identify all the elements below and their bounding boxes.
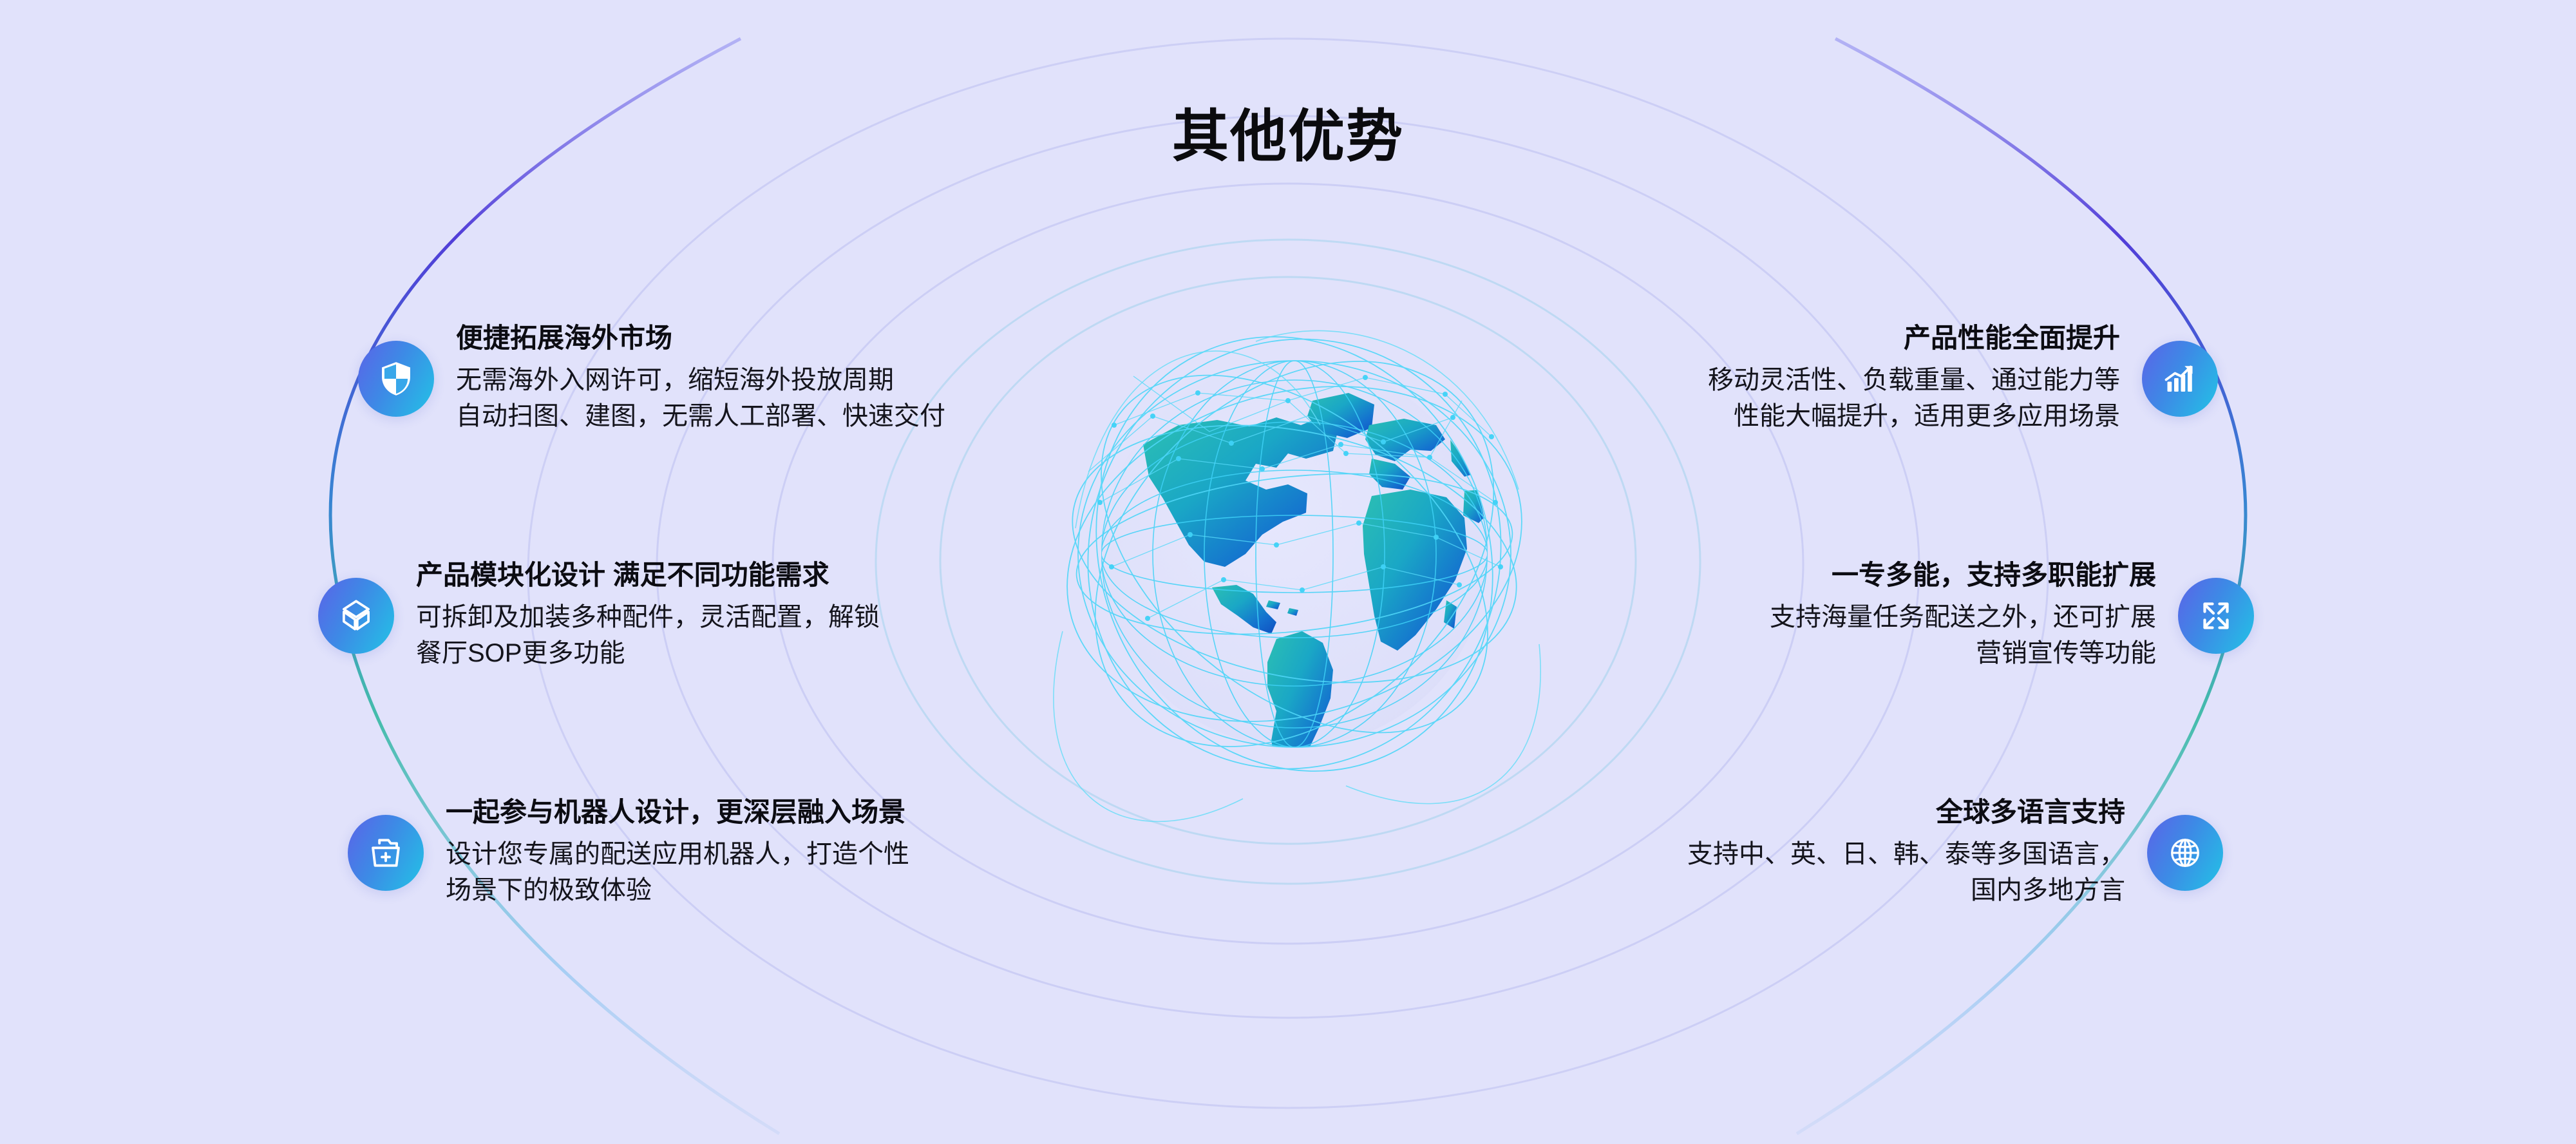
- feature-line: 国内多地方言: [1687, 872, 2125, 909]
- feature-item-left-2[interactable]: 产品模块化设计 满足不同功能需求 可拆卸及加装多种配件，灵活配置，解锁 餐厅SO…: [318, 559, 902, 672]
- feature-line: 自动扫图、建图，无需人工部署、快速交付: [456, 398, 945, 435]
- feature-text-block: 产品性能全面提升 移动灵活性、负载重量、通过能力等 性能大幅提升，适用更多应用场…: [1686, 322, 2142, 435]
- folder-plus-icon: [348, 815, 424, 891]
- feature-title: 一专多能，支持多职能扩展: [1770, 559, 2156, 591]
- feature-item-right-1[interactable]: 产品性能全面提升 移动灵活性、负载重量、通过能力等 性能大幅提升，适用更多应用场…: [1686, 322, 2218, 435]
- globe-icon: [2147, 815, 2223, 891]
- feature-title: 产品性能全面提升: [1708, 322, 2120, 354]
- feature-text-block: 便捷拓展海外市场 无需海外入网许可，缩短海外投放周期 自动扫图、建图，无需人工部…: [434, 322, 967, 435]
- cube-icon: [318, 578, 394, 654]
- chart-trending-up-icon: [2142, 341, 2218, 417]
- feature-line: 营销宣传等功能: [1770, 635, 2156, 672]
- feature-title: 产品模块化设计 满足不同功能需求: [416, 559, 880, 591]
- feature-text-block: 全球多语言支持 支持中、英、日、韩、泰等多国语言， 国内多地方言: [1665, 796, 2147, 909]
- feature-title: 全球多语言支持: [1687, 796, 2125, 828]
- feature-line: 餐厅SOP更多功能: [416, 635, 880, 672]
- page-title: 其他优势: [0, 108, 2576, 165]
- feature-item-left-3[interactable]: 一起参与机器人设计，更深层融入场景 设计您专属的配送应用机器人，打造个性 场景下…: [348, 796, 931, 909]
- feature-line: 无需海外入网许可，缩短海外投放周期: [456, 362, 945, 399]
- feature-text-block: 一起参与机器人设计，更深层融入场景 设计您专属的配送应用机器人，打造个性 场景下…: [424, 796, 931, 909]
- shield-icon: [358, 341, 434, 417]
- feature-item-right-2[interactable]: 一专多能，支持多职能扩展 支持海量任务配送之外，还可扩展 营销宣传等功能: [1748, 559, 2254, 672]
- feature-line: 支持海量任务配送之外，还可扩展: [1770, 599, 2156, 636]
- feature-line: 可拆卸及加装多种配件，灵活配置，解锁: [416, 599, 880, 636]
- feature-title: 便捷拓展海外市场: [456, 322, 945, 354]
- feature-text-block: 产品模块化设计 满足不同功能需求 可拆卸及加装多种配件，灵活配置，解锁 餐厅SO…: [394, 559, 902, 672]
- feature-title: 一起参与机器人设计，更深层融入场景: [446, 796, 909, 828]
- feature-text-block: 一专多能，支持多职能扩展 支持海量任务配送之外，还可扩展 营销宣传等功能: [1748, 559, 2178, 672]
- globe-network-illustration: [985, 232, 1604, 850]
- feature-line: 移动灵活性、负载重量、通过能力等: [1708, 362, 2120, 399]
- feature-item-left-1[interactable]: 便捷拓展海外市场 无需海外入网许可，缩短海外投放周期 自动扫图、建图，无需人工部…: [358, 322, 967, 435]
- feature-line: 场景下的极致体验: [446, 872, 909, 909]
- feature-line: 设计您专属的配送应用机器人，打造个性: [446, 836, 909, 873]
- expand-arrows-icon: [2178, 578, 2254, 654]
- feature-line: 支持中、英、日、韩、泰等多国语言，: [1687, 836, 2125, 873]
- advantages-section: 其他优势: [0, 0, 2576, 1144]
- feature-line: 性能大幅提升，适用更多应用场景: [1708, 398, 2120, 435]
- feature-item-right-3[interactable]: 全球多语言支持 支持中、英、日、韩、泰等多国语言， 国内多地方言: [1665, 796, 2223, 909]
